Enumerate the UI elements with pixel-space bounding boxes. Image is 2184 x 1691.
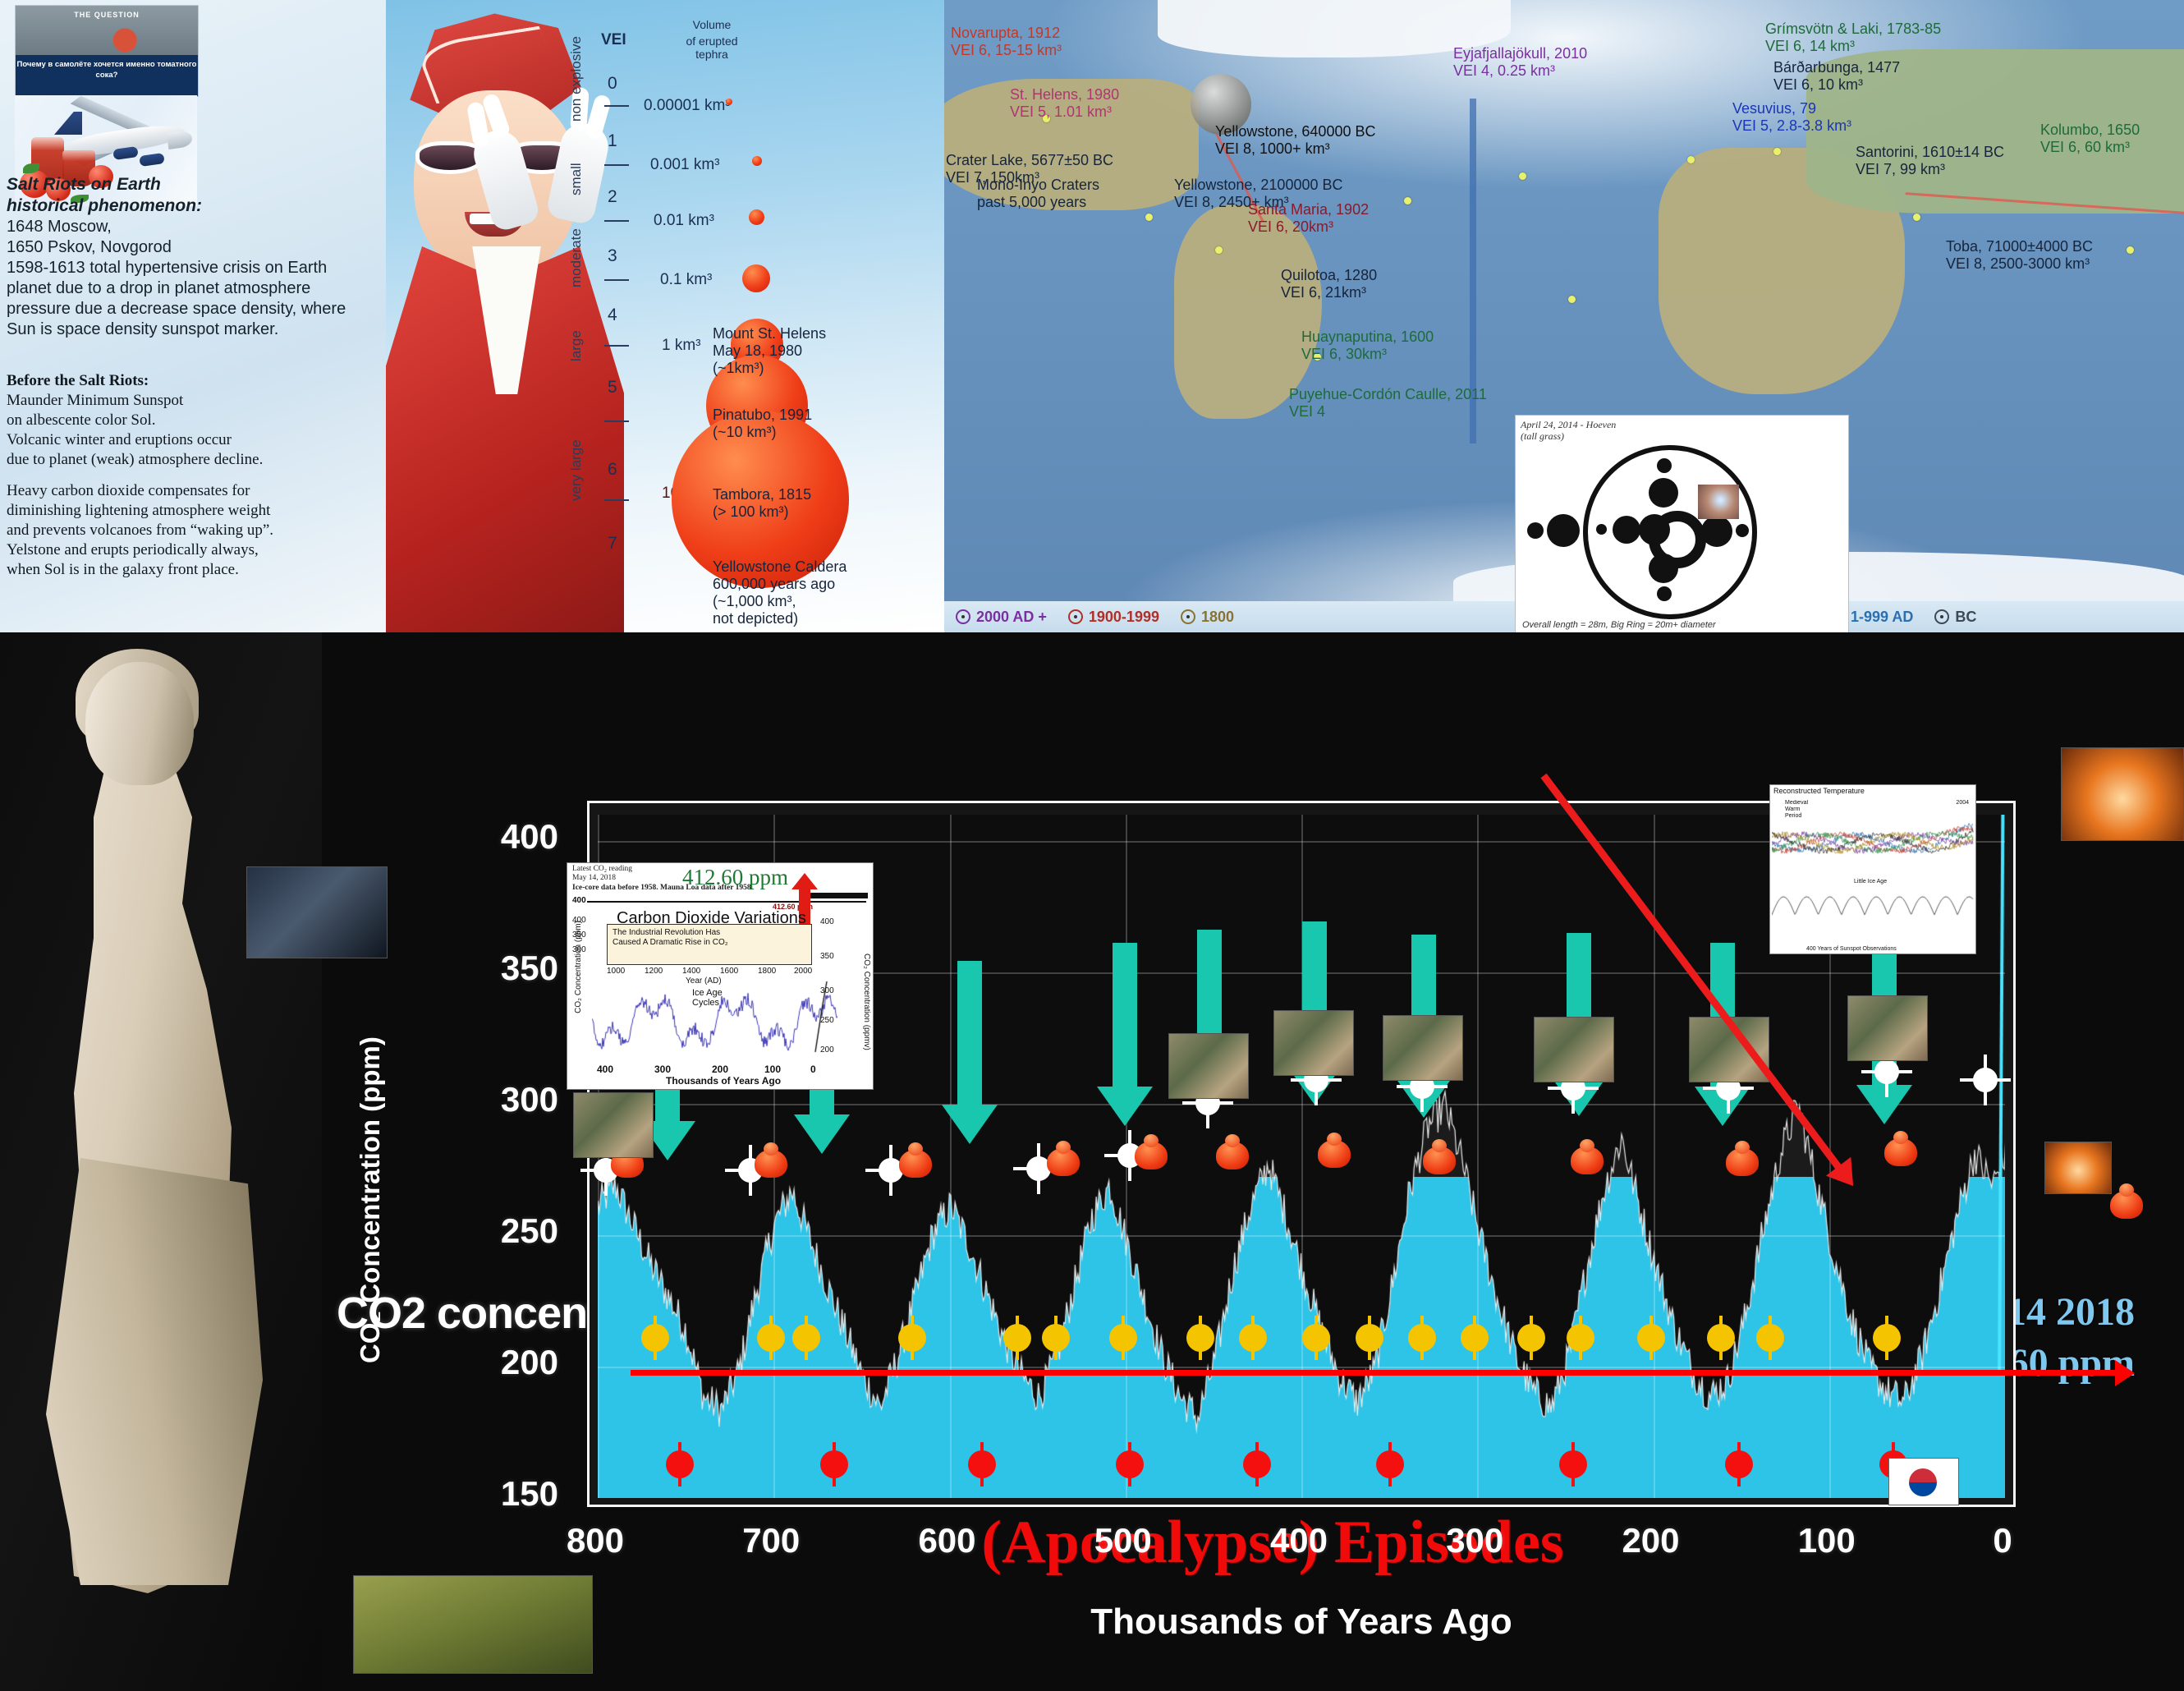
vei-volume-header-3: tephra [650,48,773,61]
yellow-episode-marker [1109,1324,1137,1352]
map-label-name: Novarupta, 1912 [951,25,1062,42]
interglacial-peak-marker [1973,1068,1998,1092]
vei-level-0: 0 [608,74,617,94]
volcano-eruption-icon [899,1150,932,1178]
vei-scale-diagram: VEI Volume of erupted tephra non explosi… [583,0,944,632]
vei-volume-0: 0.00001 km³ [644,97,731,115]
apocalypse-painting-thumbnail [1383,1015,1463,1081]
x-tick-label: 800 [521,1521,669,1560]
volcano-eruption-icon [1423,1146,1456,1174]
apocalypse-painting-thumbnail [1534,1017,1614,1082]
map-label-name: Mono-Inyo Craters [977,177,1099,194]
inset-right-y-1: 350 [820,952,834,961]
temp-series-canvas [1772,797,1974,875]
thumbnail-fire-small [2044,1142,2112,1194]
vei-callout-mount-st-helens: Mount St. Helens May 18, 1980 (~1km³) [713,325,943,377]
map-label-name: Kolumbo, 1650 [2040,122,2140,139]
inset-inner-x-1: 1200 [645,967,663,976]
vei-column-header: VEI [601,31,626,49]
question-card-caption: Почему в самолёте хочется именно томатно… [16,55,198,97]
map-label-name: Puyehue-Cordón Caulle, 2011 [1289,386,1487,403]
inset-outer-x-0: 400 [597,1064,613,1075]
x-tick-label: 300 [1401,1521,1549,1560]
inset-big-value: 412.60 ppm [682,865,788,890]
volcano-icon-right-edge [2110,1191,2143,1219]
callout-line: (~1km³) [713,360,943,377]
inset-right-axis-label: CO₂ Concentration (ppmv) [862,953,871,1050]
red-episode-marker [1243,1450,1271,1478]
before-riots-line-7: and prevents volcanoes from “waking up”. [7,521,384,540]
legend-item-1900-1999: 1900-1999 [1068,609,1159,626]
vei-callout-tambora: Tambora, 1815 (> 100 km³) [713,486,943,521]
crop-circle-caption: Overall length = 28m, Big Ring = 20m+ di… [1522,620,1716,630]
y-tick-label: 300 [386,1080,558,1119]
map-label-volcano: Puyehue-Cordón Caulle, 2011VEI 4 [1289,386,1487,420]
map-label-name: Santa Maria, 1902 [1248,201,1369,218]
inset-inner-x-0: 1000 [607,967,625,976]
crop-circle-dot-outer-1 [1527,522,1544,539]
vei-volume-1: 0.001 km³ [650,156,719,174]
map-label-detail: VEI 6, 20km³ [1248,218,1369,236]
y-tick-label: 150 [386,1474,558,1514]
map-label-volcano: Kolumbo, 1650VEI 6, 60 km³ [2040,122,2140,156]
map-label-name: Santorini, 1610±14 BC [1856,144,2004,161]
salt-riots-heading-1: Salt Riots on Earth [7,174,380,195]
crop-circle-inset: April 24, 2014 - Hoeven (tall grass) Ove… [1515,415,1849,634]
legend-dot-icon [1068,609,1083,624]
map-label-volcano: St. Helens, 1980VEI 5, 1.01 km³ [1010,86,1119,121]
volcano-eruption-icon [1318,1140,1351,1168]
vei-volume-3: 0.1 km³ [660,271,712,289]
venus-statue-image [0,632,322,1691]
inset-inner-x-label: Year (AD) [686,976,722,986]
statue-head [85,662,194,785]
vei-category-large: large [568,271,585,361]
red-episode-marker [1725,1450,1753,1478]
flag-thumbnail [1888,1458,1959,1505]
thumbnail-night-scene [246,866,388,958]
yellow-episode-marker [1637,1324,1665,1352]
map-label-name: Toba, 71000±4000 BC [1946,238,2093,255]
legend-dot-icon [956,609,970,624]
map-label-detail: VEI 4, 0.25 km³ [1453,62,1587,80]
crop-circle-dot-l1 [1596,524,1607,535]
map-label-volcano: Novarupta, 1912VEI 6, 15-15 km³ [951,25,1062,59]
y-axis-label: CO₂ Concentration (ppm) [355,936,386,1363]
legend-dot-icon [1934,609,1949,624]
sunspot-series-canvas [1772,887,1974,938]
inset-top-tick: 400 [572,896,586,905]
inset-outer-x-2: 200 [712,1064,728,1075]
map-label-detail: VEI 7, 99 km³ [1856,161,2004,178]
salt-riots-line-5: pressure due a decrease space density, w… [7,299,380,319]
volcano-eruption-icon [1571,1146,1604,1174]
before-riots-line-5: Heavy carbon dioxide compensates for [7,481,384,501]
before-riots-line-8: Yelstone and erupts periodically always, [7,540,384,560]
legend-label: 1-999 AD [1851,609,1913,626]
crop-circle-dot-bottom-small [1657,586,1672,601]
temp-label-medieval: Medieval [1785,800,1808,806]
gridline-vertical [1301,815,1303,1498]
yellow-episode-marker [1356,1324,1383,1352]
map-label-detail: VEI 4 [1289,403,1487,420]
map-label-name: Grímsvötn & Laki, 1783-85 [1765,21,1941,38]
inset-annotation-box: The Industrial Revolution Has Caused A D… [607,924,812,965]
crop-circle-dot-r1 [1701,516,1732,547]
legend-dot-icon [1181,609,1195,624]
inset-right-y-0: 400 [820,917,834,926]
nebula-thumbnail [1698,485,1739,519]
before-riots-line-6: diminishing lightening atmosphere weight [7,501,384,521]
salt-riots-heading-2: historical phenomenon: [7,195,380,217]
map-label-volcano: Huaynaputina, 1600VEI 6, 30km³ [1301,329,1434,363]
tephra-blob-2 [749,209,764,225]
thumbnail-grass-field [353,1575,593,1674]
inset-latest-line-2: May 14, 2018 [572,874,616,883]
x-tick-label: 500 [1049,1521,1197,1560]
sunspot-subtitle: 400 Years of Sunspot Observations [1806,946,1897,952]
vei-level-5: 5 [608,378,617,397]
crop-circle-dot-top-big [1649,478,1678,508]
yellow-episode-marker [1003,1324,1031,1352]
map-label-volcano: Grímsvötn & Laki, 1783-85VEI 6, 14 km³ [1765,21,1941,55]
before-riots-line-1: Maunder Minimum Sunspot [7,391,384,411]
map-label-detail: VEI 6, 10 km³ [1773,76,1900,94]
map-label-detail: VEI 6, 30km³ [1301,346,1434,363]
legend-item-1800: 1800 [1181,609,1234,626]
inset-inner-x-3: 1600 [720,967,738,976]
plane-engine-shape-2 [139,153,165,167]
map-label-detail: VEI 8, 1000+ km³ [1215,140,1375,158]
callout-line: May 18, 1980 [713,342,943,360]
y-tick-label: 400 [386,817,558,857]
yellow-episode-marker [1873,1324,1901,1352]
volcano-eruption-icon [1884,1138,1917,1166]
thumbnail-fire-scene [2061,747,2184,841]
gridline-horizontal [598,1235,2005,1237]
inset-outer-x-4: 0 [810,1064,816,1075]
apocalypse-painting-thumbnail [1847,995,1928,1061]
gridline-vertical [950,815,952,1498]
before-riots-heading: Before the Salt Riots: [7,371,384,391]
inset-inner-x-5: 2000 [794,967,812,976]
map-label-name: Huaynaputina, 1600 [1301,329,1434,346]
map-label-name: Bárðarbunga, 1477 [1773,59,1900,76]
map-label-volcano: Toba, 71000±4000 BCVEI 8, 2500-3000 km³ [1946,238,2093,273]
map-label-volcano: Santa Maria, 1902VEI 6, 20km³ [1248,201,1369,236]
map-label-volcano: Eyjafjallajökull, 2010VEI 4, 0.25 km³ [1453,45,1587,80]
plane-nose-shape [167,130,193,149]
y-tick-label: 250 [386,1211,558,1251]
yellow-episode-marker [757,1324,785,1352]
vei-volume-header-2: of erupted [650,34,773,48]
map-label-volcano: Santorini, 1610±14 BCVEI 7, 99 km³ [1856,144,2004,178]
inset-annotation-line-1: The Industrial Revolution Has [613,928,811,938]
map-label-detail: VEI 5, 1.01 km³ [1010,103,1119,121]
legend-label: BC [1955,609,1976,626]
vei-level-3: 3 [608,246,617,266]
inset-inner-x-2: 1400 [682,967,700,976]
inset-left-axis-label: CO₂ Concentration (ppm) [574,921,583,1013]
threshold-line [631,1370,2117,1376]
crop-circle-subtitle: (tall grass) [1516,430,1848,442]
crop-circle-dot-outer-2 [1547,514,1580,547]
crop-circle-dot-l2 [1613,516,1640,544]
temp-label-2004: 2004 [1956,800,1969,806]
vei-volume-4: 1 km³ [662,337,701,355]
crop-circle-dot-l3 [1639,514,1670,545]
inset-series-canvas [592,976,838,1059]
yellow-episode-marker [641,1324,669,1352]
vei-level-2: 2 [608,187,617,207]
inset-inner-x-4: 1800 [758,967,776,976]
inset-right-y-2: 300 [820,986,834,995]
yellow-episode-marker [1517,1324,1545,1352]
map-label-name: Vesuvius, 79 [1732,100,1851,117]
gridline-vertical [1477,815,1479,1498]
map-label-volcano: Bárðarbunga, 1477VEI 6, 10 km³ [1773,59,1900,94]
legend-label: 1800 [1201,609,1234,626]
apocalypse-painting-thumbnail [1273,1010,1354,1076]
red-episode-marker [666,1450,694,1478]
volcano-eruption-icon [1135,1142,1168,1169]
carbon-dioxide-variations-inset: Latest CO₂ reading May 14, 2018 Ice-core… [567,862,874,1090]
before-riots-line-9: when Sol is in the galaxy front place. [7,560,384,580]
volcano-eruption-icon [755,1150,787,1178]
yellow-episode-marker [1186,1324,1214,1352]
callout-line: Mount St. Helens [713,325,943,342]
map-label-detail: VEI 8, 2500-3000 km³ [1946,255,2093,273]
before-riots-line-2: on albescente color Sol. [7,411,384,430]
plane-tail-shape [54,112,82,135]
apocalypse-painting-thumbnail [1168,1033,1249,1099]
gridline-horizontal [598,1367,2005,1368]
x-tick-label: 700 [697,1521,845,1560]
y-tick-label: 200 [386,1343,558,1382]
inset-outer-x-3: 100 [764,1064,781,1075]
salt-riots-panel: THE QUESTION Почему в самолёте хочется и… [0,0,386,632]
map-label-volcano: Quilotoa, 1280VEI 6, 21km³ [1281,267,1377,301]
vei-level-4: 4 [608,306,617,325]
temp-inset-title: Reconstructed Temperature [1770,785,1975,795]
interglacial-peak-marker [1874,1059,1899,1084]
tephra-blob-3 [742,264,770,292]
legend-item-2000ad: 2000 AD + [956,609,1047,626]
vei-level-7: 7 [608,534,617,554]
vei-callout-yellowstone: Yellowstone Caldera 600,000 years ago (~… [713,558,944,627]
callout-line: 600,000 years ago [713,576,944,593]
volcano-eruption-icon [1047,1148,1080,1176]
question-card-overline: THE QUESTION [16,11,198,19]
callout-line: not depicted) [713,610,944,627]
map-label-detail: VEI 6, 15-15 km³ [951,42,1062,59]
inset-outer-x-1: 300 [654,1064,671,1075]
yellow-episode-marker [1756,1324,1784,1352]
salt-riots-line-2: 1650 Pskov, Novgorod [7,237,380,258]
tephra-blob-1 [752,156,762,166]
legend-label: 1900-1999 [1089,609,1159,626]
salt-riots-line-1: 1648 Moscow, [7,217,380,237]
legend-item-bc: BC [1934,609,1976,626]
before-riots-line-4: due to planet (weak) atmosphere decline. [7,450,384,470]
map-label-detail: VEI 5, 2.8-3.8 km³ [1732,117,1851,135]
yellow-episode-marker [1408,1324,1436,1352]
map-label-volcano: Yellowstone, 640000 BCVEI 8, 1000+ km³ [1215,123,1375,158]
salt-riots-line-3: 1598-1613 total hypertensive crisis on E… [7,258,380,278]
inset-right-y-4: 200 [820,1045,834,1055]
vei-volume-header-1: Volume [650,18,773,31]
tephra-blob-0 [726,99,732,105]
reconstructed-temperature-inset: Reconstructed Temperature Medieval Warm … [1769,784,1976,954]
red-episode-marker [1559,1450,1587,1478]
yellow-episode-marker [1461,1324,1489,1352]
vei-category-very-large: very large [568,353,585,501]
x-tick-label: 200 [1577,1521,1725,1560]
x-tick-label: 400 [1225,1521,1373,1560]
x-tick-label: 600 [874,1521,1021,1560]
inset-annotation-line-2: Caused A Dramatic Rise in CO₂ [613,938,811,948]
map-label-name: Crater Lake, 5677±50 BC [946,152,1113,169]
map-label-name: Quilotoa, 1280 [1281,267,1377,284]
map-label-volcano: Mono-Inyo Craterspast 5,000 years [977,177,1099,211]
before-riots-line-3: Volcanic winter and eruptions occur [7,430,384,450]
yellow-episode-marker [792,1324,820,1352]
map-label-name: Yellowstone, 640000 BC [1215,123,1375,140]
map-label-name: Yellowstone, 2100000 BC [1174,177,1343,194]
callout-line: Tambora, 1815 [713,486,943,503]
callout-line: Yellowstone Caldera [713,558,944,576]
temp-label-little-ice-age: Little Ice Age [1854,879,1887,885]
callout-line: (> 100 km³) [713,503,943,521]
vei-callout-pinatubo: Pinatubo, 1991 (~10 km³) [713,407,943,441]
x-tick-label: 0 [1929,1521,2076,1560]
vei-volume-2: 0.01 km³ [654,212,714,230]
vei-level-1: 1 [608,131,617,151]
statue-drapery [21,1158,268,1585]
map-label-volcano: Vesuvius, 79VEI 5, 2.8-3.8 km³ [1732,100,1851,135]
callout-line: (~10 km³) [713,424,943,441]
salt-riots-line-6: Sun is space density sunspot marker. [7,319,380,340]
vei-scale-panel: VEI Volume of erupted tephra non explosi… [386,0,944,632]
map-label-name: Eyjafjallajökull, 2010 [1453,45,1587,62]
map-label-name: St. Helens, 1980 [1010,86,1119,103]
yellow-episode-marker [898,1324,926,1352]
flag-circle-icon [1909,1468,1937,1496]
legend-label: 2000 AD + [976,609,1047,626]
salt-riots-text: Salt Riots on Earth historical phenomeno… [7,174,380,340]
apocalypse-painting-thumbnail [573,1092,654,1158]
callout-line: Pinatubo, 1991 [713,407,943,424]
temp-label-period: Period [1785,813,1801,819]
inset-right-y-3: 250 [820,1016,834,1025]
volcano-eruption-icon [1726,1148,1759,1176]
map-label-detail: VEI 6, 14 km³ [1765,38,1941,55]
yellow-episode-marker [1707,1324,1735,1352]
crop-circle-dot-bottom-big [1649,554,1678,583]
inset-latest-line-1: Latest CO₂ reading [572,865,632,874]
vei-level-6: 6 [608,460,617,480]
salt-riots-line-4: planet due to a drop in planet atmospher… [7,278,380,299]
yellow-episode-marker [1567,1324,1594,1352]
crop-circle-dot-top-small [1657,458,1672,473]
temp-label-warm: Warm [1785,806,1800,812]
y-tick-label: 350 [386,949,558,988]
x-tick-label: 100 [1753,1521,1901,1560]
crop-circle-dot-r2 [1736,524,1749,537]
volcano-eruption-icon [1216,1142,1249,1169]
map-label-detail: VEI 6, 60 km³ [2040,139,2140,156]
callout-line: (~1,000 km³, [713,593,944,610]
map-label-detail: past 5,000 years [977,194,1099,211]
x-axis-label: Thousands of Years Ago [587,1601,2016,1643]
before-salt-riots-text: Before the Salt Riots: Maunder Minimum S… [7,371,384,580]
inset-outer-x-label: Thousands of Years Ago [666,1075,781,1087]
map-label-detail: VEI 6, 21km³ [1281,284,1377,301]
question-card-image: THE QUESTION Почему в самолёте хочется и… [15,5,199,97]
crop-circle-date: April 24, 2014 - Hoeven [1516,416,1848,430]
